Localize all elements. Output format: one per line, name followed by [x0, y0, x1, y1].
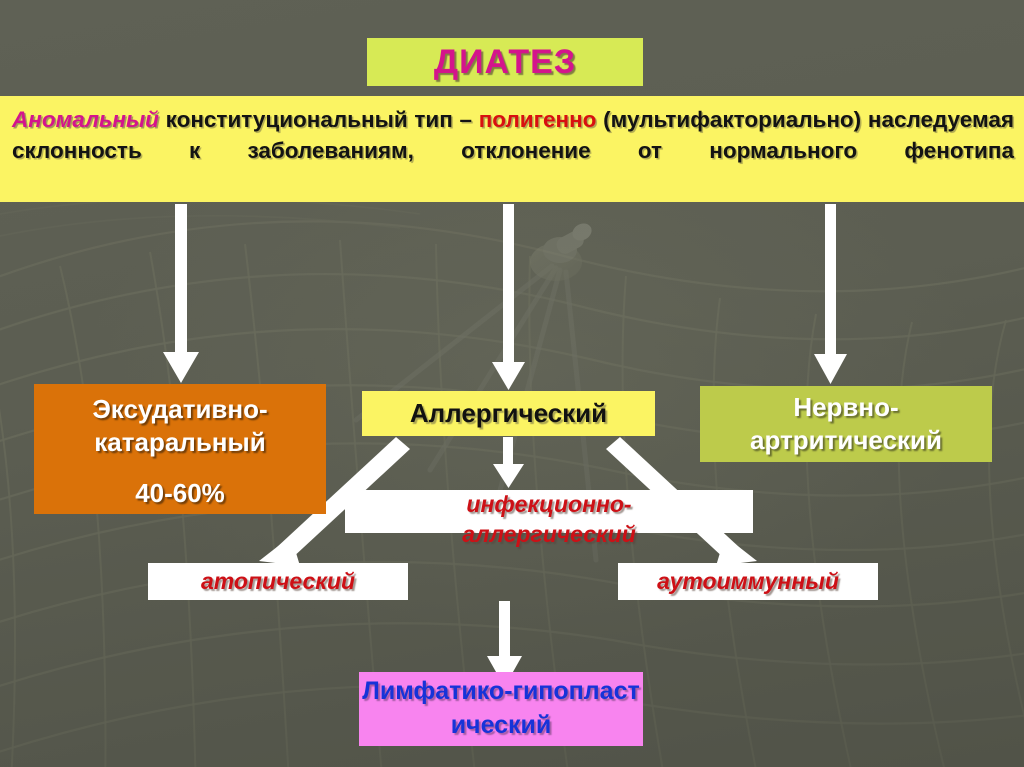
node-exudative-line1: Эксудативно-	[92, 393, 267, 426]
node-infectious-text: инфекционно-аллергический	[462, 489, 636, 549]
node-lymphatic-hypoplastic[interactable]: Лимфатико-гипопластический	[359, 672, 643, 746]
arrow-banner-to-allergic	[492, 204, 525, 390]
node-lymphatic-text: Лимфатико-гипопластический	[359, 674, 643, 742]
definition-banner: Аномальный конституциональный тип – поли…	[0, 96, 1024, 202]
node-neuro-line2: артритический	[750, 424, 942, 457]
node-infectious-line1: инфекционно-	[466, 491, 631, 517]
arrow-banner-to-neuro	[814, 204, 847, 384]
page-title: ДИАТЕЗ	[434, 43, 576, 82]
node-autoimmune-label: аутоиммунный	[657, 568, 839, 595]
node-exudative-percent: 40-60%	[135, 477, 225, 510]
node-exudative-line2: катаральный	[94, 426, 265, 459]
definition-keyword-anomalous: Аномальный	[12, 107, 159, 132]
arrow-banner-to-exudative	[163, 204, 199, 383]
node-neuro-arthritic[interactable]: Нервно- артритический	[700, 386, 992, 462]
node-infectious-allergic[interactable]: инфекционно-аллергический	[345, 490, 753, 533]
presentation-slide: ДИАТЕЗ Аномальный конституциональный тип…	[0, 0, 1024, 767]
arrow-allergic-to-infectious	[493, 437, 524, 488]
node-neuro-line1: Нервно-	[793, 391, 898, 424]
node-exudative-catarrhal[interactable]: Эксудативно- катаральный 40-60%	[34, 384, 326, 514]
definition-keyword-polygenic: полигенно	[479, 107, 597, 132]
node-allergic-label: Аллергический	[410, 398, 607, 429]
node-autoimmune[interactable]: аутоиммунный	[618, 563, 878, 600]
slide-title-band: ДИАТЕЗ	[367, 38, 643, 86]
node-infectious-line2: аллергический	[462, 521, 636, 547]
node-allergic[interactable]: Аллергический	[362, 391, 655, 436]
node-atopic[interactable]: атопический	[148, 563, 408, 600]
definition-text: Аномальный конституциональный тип – поли…	[12, 104, 1014, 197]
definition-mid-text: конституциональный тип –	[166, 107, 472, 132]
node-atopic-label: атопический	[201, 568, 355, 595]
